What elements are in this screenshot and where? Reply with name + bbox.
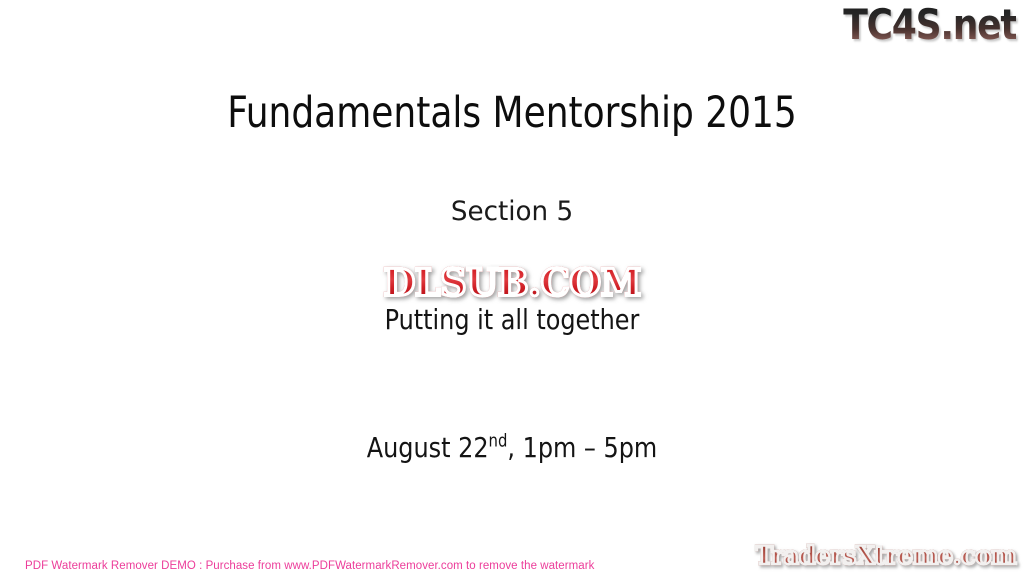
- slide-datetime: August 22nd, 1pm – 5pm: [26, 431, 999, 464]
- datetime-prefix: August 22: [367, 431, 489, 464]
- slide-title: Fundamentals Mentorship 2015: [36, 88, 988, 138]
- slide-tagline: Putting it all together: [26, 303, 999, 336]
- tradersxtreme-brand-logo: TradersXtreme.com: [755, 542, 1016, 570]
- datetime-suffix: , 1pm – 5pm: [507, 431, 657, 464]
- presentation-slide: TC4S.net Fundamentals Mentorship 2015 Se…: [0, 0, 1024, 576]
- pdf-watermark-footer-text: PDF Watermark Remover DEMO : Purchase fr…: [25, 560, 594, 572]
- slide-subtitle: Section 5: [15, 196, 1008, 227]
- dlsub-watermark-text: DLSUB.COM: [383, 262, 640, 304]
- datetime-ordinal-suffix: nd: [489, 432, 508, 452]
- dlsub-watermark: DLSUB.COM: [0, 262, 1024, 302]
- tc4s-brand-logo: TC4S.net: [843, 2, 1016, 48]
